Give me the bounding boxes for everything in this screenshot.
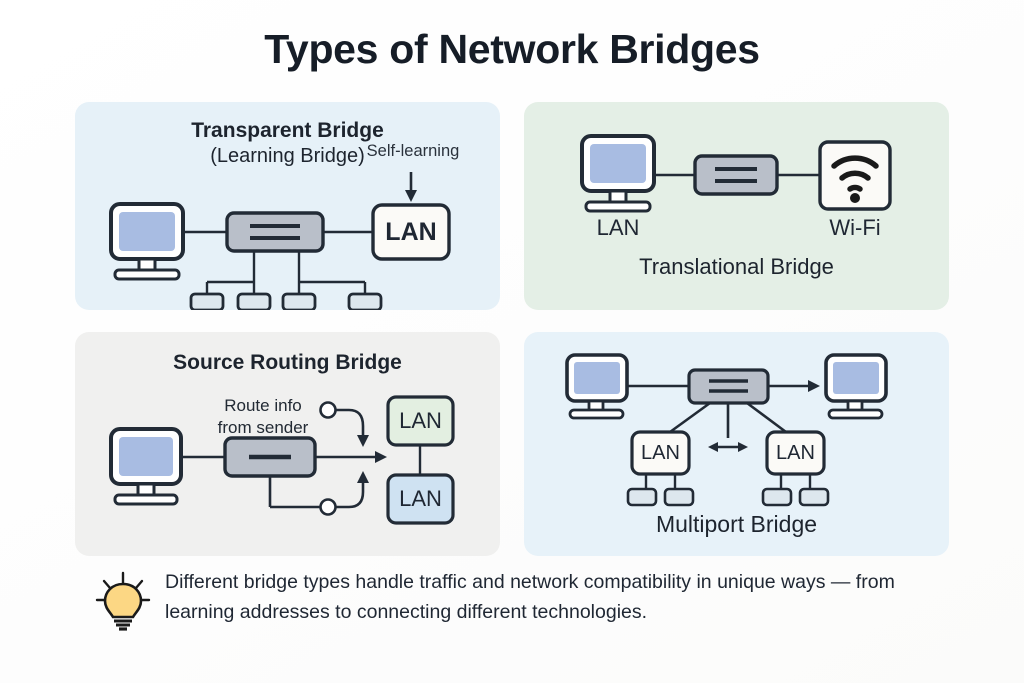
monitor-icon-right [826,355,886,418]
panel-transparent-bridge[interactable]: Transparent Bridge (Learning Bridge) [75,102,500,310]
panel-grid: Transparent Bridge (Learning Bridge) [75,102,949,556]
bridge-device-icon [689,370,768,403]
wifi-label: Wi-Fi [805,215,905,241]
double-arrow-icon [708,442,748,452]
forward-arrow-icon [768,380,820,392]
monitor-icon [111,204,183,279]
panel-title-multiport: Multiport Bridge [524,510,949,538]
curved-arrow-top [321,403,370,448]
self-learning-annotation: Self-learning [313,142,500,161]
terminal-node [800,489,828,505]
route-info-line1: Route info [203,395,323,417]
panel-translational-bridge[interactable]: LAN Wi-Fi Translational Bridge [524,102,949,310]
lan-label-top: LAN [388,397,453,445]
terminal-node [283,294,315,310]
terminal-node [628,489,656,505]
forward-arrow-icon [315,451,387,463]
lan-label: LAN [373,205,449,259]
link-bridge-lan-left [670,403,710,432]
lan-label-bottom: LAN [388,475,453,523]
page-title: Types of Network Bridges [0,26,1024,73]
terminal-node [763,489,791,505]
monitor-icon [582,136,654,211]
panel-multiport-bridge[interactable]: LAN LAN Multiport Bridge [524,332,949,556]
lightbulb-icon [95,570,151,632]
terminal-node [191,294,223,310]
footer-text: Different bridge types handle traffic an… [165,566,955,627]
route-info-annotation: Route info from sender [203,395,323,439]
footer-note: Different bridge types handle traffic an… [95,566,955,650]
terminal-node [349,294,381,310]
panel-source-routing-bridge[interactable]: Source Routing Bridge [75,332,500,556]
lan-label-right: LAN [767,432,824,474]
lan-label-left: LAN [568,215,668,241]
bridge-device-icon [227,213,323,251]
wifi-icon [820,142,890,209]
route-info-line2: from sender [203,417,323,439]
terminal-node [665,489,693,505]
bridge-device-icon [225,438,315,476]
infographic-page: Types of Network Bridges Transparent Bri… [0,0,1024,683]
monitor-icon [111,429,181,504]
monitor-icon-left [567,355,627,418]
terminal-tree [191,251,381,310]
link-bridge-lan-right [747,403,786,432]
panel-title-translational: Translational Bridge [524,254,949,281]
bridge-device-icon [695,156,777,194]
down-arrow-icon [405,172,417,202]
lan-label-left: LAN [632,432,689,474]
terminal-node [238,294,270,310]
